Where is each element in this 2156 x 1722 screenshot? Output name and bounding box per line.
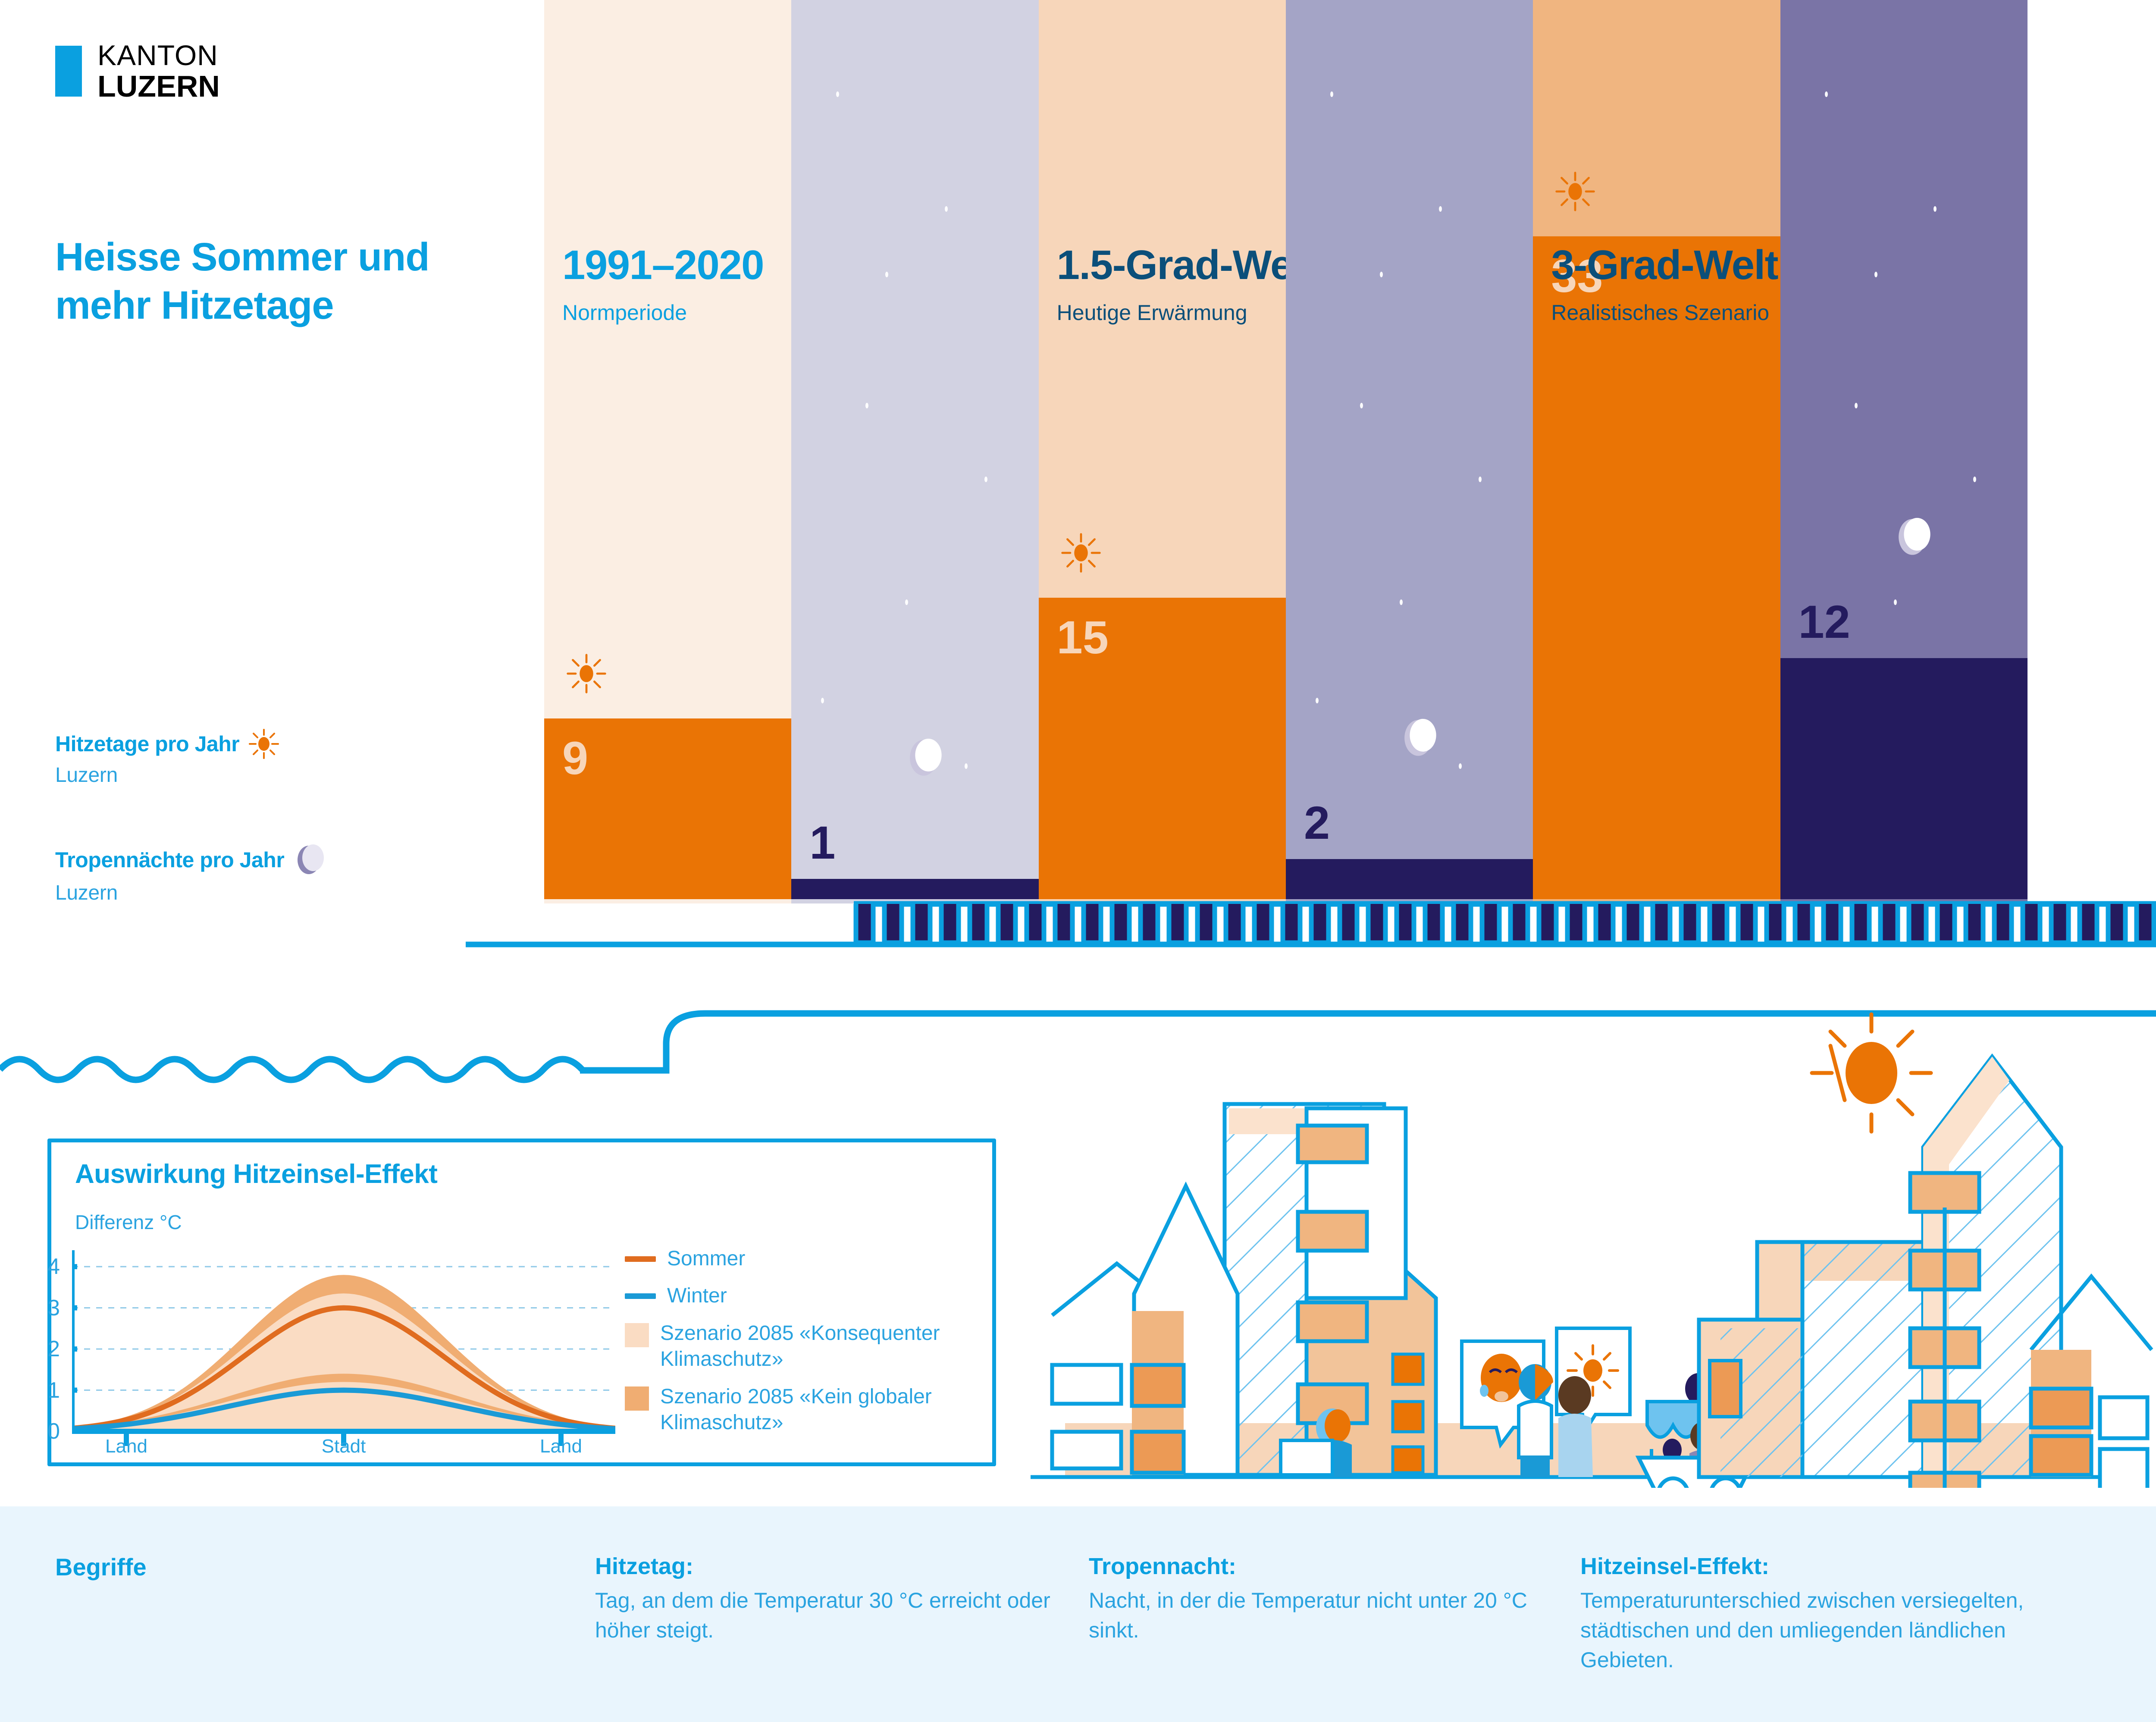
column-header: 3-Grad-Welt Realistisches Szenario — [1551, 242, 1778, 325]
person-standing-left — [1519, 1364, 1553, 1477]
sun-icon-wrap — [1061, 533, 1101, 575]
heat-island-chart: Auswirkung Hitzeinsel-Effekt Differenz °… — [47, 1139, 996, 1466]
glossary-definition: Tag, an dem die Temperatur 30 °C erreich… — [595, 1586, 1061, 1645]
chart-legend-item: Szenario 2085 «Kein globaler Klimaschutz… — [625, 1384, 978, 1436]
sun-icon — [1061, 533, 1101, 573]
glossary-term: Hitzeinsel-Effekt: — [1580, 1553, 2076, 1580]
bar-value-heat-days: 9 — [562, 735, 588, 781]
logo-luzern-text: LUZERN — [97, 71, 220, 101]
city-scene-illustration — [1005, 1001, 2156, 1488]
moon-icon-wrap — [1400, 717, 1437, 761]
chart-y-axis-label: Differenz °C — [75, 1211, 182, 1234]
bar-value-tropical-nights: 2 — [1304, 800, 1330, 846]
column-title: 1991–2020 — [562, 242, 764, 289]
legend-heat-days-sub: Luzern — [55, 763, 279, 787]
chart-y-tick: 2 — [47, 1336, 60, 1362]
legend-tropical-nights-sub: Luzern — [55, 881, 324, 905]
chart-legend-label: Szenario 2085 «Konsequenter Klimaschutz» — [660, 1321, 978, 1373]
bar-tropical-nights — [1286, 859, 1533, 899]
column-subtitle: Realistisches Szenario — [1551, 300, 1778, 325]
glossary-definition: Temperaturunterschied zwischen versiegel… — [1580, 1586, 2076, 1675]
legend-tropical-nights-label: Tropennächte pro Jahr — [55, 847, 284, 872]
scenario-column-day-3: 33 3-Grad-Welt Realistisches Szenario — [1533, 0, 1780, 903]
chart-title: Auswirkung Hitzeinsel-Effekt — [75, 1159, 437, 1189]
moon-icon — [905, 737, 942, 779]
scenario-columns: 9 1991–2020 Normperiode 1 15 — [544, 0, 2028, 903]
sun-icon — [1555, 172, 1595, 211]
chart-legend-label: Winter — [667, 1283, 727, 1309]
legend-line-swatch — [625, 1256, 656, 1262]
chart-legend-item: Szenario 2085 «Konsequenter Klimaschutz» — [625, 1321, 978, 1373]
legend-line-swatch — [625, 1293, 656, 1299]
bar-value-heat-days: 15 — [1057, 614, 1109, 661]
scenario-column-night-3: 12 — [1780, 0, 2028, 903]
glossary-definition: Nacht, in der die Temperatur nicht unter… — [1089, 1586, 1554, 1645]
chart-legend-label: Sommer — [667, 1246, 745, 1272]
chart-x-tick: Land — [105, 1436, 147, 1457]
legend-heat-days: Hitzetage pro Jahr Luzern — [55, 729, 279, 787]
chart-y-tick: 4 — [47, 1254, 60, 1280]
sun-icon-large — [1812, 1014, 1931, 1132]
scenario-column-night-1: 1 — [791, 0, 1038, 903]
column-title: 3-Grad-Welt — [1551, 242, 1778, 289]
legend-tropical-nights: Tropennächte pro Jahr Luzern — [55, 843, 324, 905]
glossary-term: Hitzetag: — [595, 1553, 1061, 1580]
moon-icon-wrap — [1894, 516, 1931, 560]
chart-y-tick: 0 — [47, 1418, 60, 1444]
chart-y-tick: 3 — [47, 1295, 60, 1321]
bar-value-tropical-nights: 1 — [809, 819, 835, 866]
legend-box-swatch — [625, 1386, 649, 1411]
sun-icon — [249, 729, 279, 759]
logo-kanton-text: KANTON — [97, 41, 220, 69]
column-subtitle: Normperiode — [562, 300, 764, 325]
column-subtitle: Heutige Erwärmung — [1057, 300, 1317, 325]
chart-x-tick: Stadt — [322, 1436, 366, 1457]
chart-plot-area: 01234LandStadtLand — [72, 1250, 615, 1431]
logo-mark — [55, 46, 82, 97]
glossary-item: Hitzetag: Tag, an dem die Temperatur 30 … — [595, 1553, 1061, 1645]
scenario-column-day-1: 9 1991–2020 Normperiode — [544, 0, 791, 903]
legend-heat-days-label: Hitzetage pro Jahr — [55, 731, 239, 756]
glossary-term: Tropennacht: — [1089, 1553, 1554, 1580]
scenario-column-night-2: 2 — [1286, 0, 1533, 903]
chart-x-tick: Land — [540, 1436, 582, 1457]
chart-legend: SommerWinterSzenario 2085 «Konsequenter … — [625, 1246, 978, 1447]
moon-icon-wrap — [905, 737, 942, 781]
bar-heat-days — [1533, 236, 1780, 899]
chart-legend-item: Sommer — [625, 1246, 978, 1272]
sun-icon-wrap — [567, 654, 606, 696]
moon-icon — [294, 843, 324, 877]
scenario-column-day-2: 15 1.5-Grad-Welt Heutige Erwärmung — [1039, 0, 1286, 903]
bar-tropical-nights — [791, 879, 1038, 899]
kanton-luzern-logo: KANTON LUZERN — [55, 41, 220, 101]
column-background — [1286, 0, 1533, 903]
moon-icon — [1894, 516, 1931, 558]
chart-legend-item: Winter — [625, 1283, 978, 1309]
page-title: Heisse Sommer und mehr Hitzetage — [55, 233, 508, 329]
chart-y-tick: 1 — [47, 1377, 60, 1403]
column-header: 1.5-Grad-Welt Heutige Erwärmung — [1057, 242, 1317, 325]
column-title: 1.5-Grad-Welt — [1057, 242, 1317, 289]
infographic-root: 9 1991–2020 Normperiode 1 15 — [0, 0, 2156, 1722]
sun-icon-wrap — [1555, 172, 1595, 213]
legend-box-swatch — [625, 1323, 649, 1347]
bar-tropical-nights — [1780, 658, 2028, 899]
person-standing-right — [1558, 1376, 1593, 1477]
glossary-bar: Begriffe Hitzetag: Tag, an dem die Tempe… — [0, 1506, 2156, 1722]
glossary-item: Tropennacht: Nacht, in der die Temperatu… — [1089, 1553, 1554, 1645]
moon-icon — [1400, 717, 1437, 759]
glossary-heading: Begriffe — [55, 1553, 147, 1581]
column-header: 1991–2020 Normperiode — [562, 242, 764, 325]
chart-legend-label: Szenario 2085 «Kein globaler Klimaschutz… — [660, 1384, 978, 1436]
bar-value-tropical-nights: 12 — [1799, 599, 1850, 645]
glossary-item: Hitzeinsel-Effekt: Temperaturunterschied… — [1580, 1553, 2076, 1675]
sun-icon — [567, 654, 606, 693]
